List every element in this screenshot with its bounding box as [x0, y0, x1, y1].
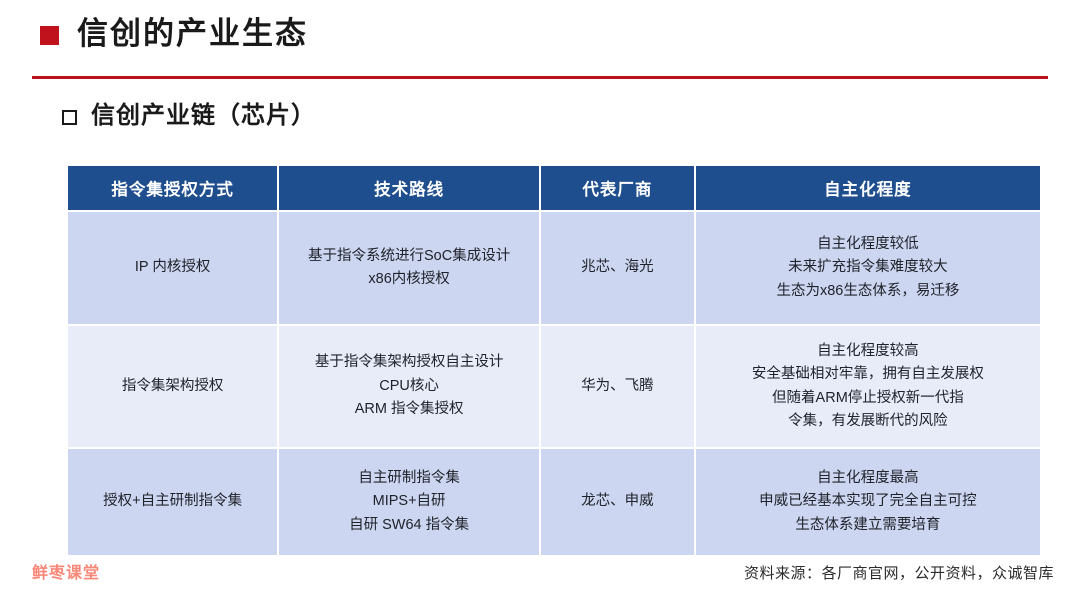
column-header-autonomy: 自主化程度	[696, 166, 1040, 210]
cell-method: IP 内核授权	[68, 212, 277, 324]
table-header-row: 指令集授权方式 技术路线 代表厂商 自主化程度	[68, 166, 1040, 210]
column-header-vendors: 代表厂商	[541, 166, 694, 210]
column-header-route: 技术路线	[279, 166, 539, 210]
slide-title-block: 信创的产业生态	[40, 18, 308, 49]
table-row: IP 内核授权 基于指令系统进行SoC集成设计 x86内核授权 兆芯、海光 自主…	[68, 212, 1040, 324]
section-subtitle: 信创产业链（芯片）	[91, 104, 316, 128]
cell-vendors: 龙芯、申威	[541, 449, 694, 555]
table-row: 指令集架构授权 基于指令集架构授权自主设计 CPU核心 ARM 指令集授权 华为…	[68, 326, 1040, 447]
cell-route: 自主研制指令集 MIPS+自研 自研 SW64 指令集	[279, 449, 539, 555]
cell-method: 指令集架构授权	[68, 326, 277, 447]
table-row: 授权+自主研制指令集 自主研制指令集 MIPS+自研 自研 SW64 指令集 龙…	[68, 449, 1040, 555]
chip-industry-chain-table: 指令集授权方式 技术路线 代表厂商 自主化程度 IP 内核授权 基于指令系统进行…	[66, 164, 1042, 557]
brand-logo: 鲜枣课堂	[32, 566, 100, 582]
cell-autonomy: 自主化程度较低 未来扩充指令集难度较大 生态为x86生态体系，易迁移	[696, 212, 1040, 324]
hollow-square-bullet-icon	[62, 110, 77, 125]
column-header-method: 指令集授权方式	[68, 166, 277, 210]
page-title: 信创的产业生态	[77, 18, 308, 49]
cell-route: 基于指令系统进行SoC集成设计 x86内核授权	[279, 212, 539, 324]
cell-vendors: 华为、飞腾	[541, 326, 694, 447]
cell-route: 基于指令集架构授权自主设计 CPU核心 ARM 指令集授权	[279, 326, 539, 447]
title-divider	[32, 76, 1048, 79]
cell-autonomy: 自主化程度较高 安全基础相对牢靠，拥有自主发展权 但随着ARM停止授权新一代指 …	[696, 326, 1040, 447]
cell-method: 授权+自主研制指令集	[68, 449, 277, 555]
cell-autonomy: 自主化程度最高 申威已经基本实现了完全自主可控 生态体系建立需要培育	[696, 449, 1040, 555]
red-square-bullet-icon	[40, 26, 59, 45]
cell-vendors: 兆芯、海光	[541, 212, 694, 324]
source-note: 资料来源：各厂商官网，公开资料，众诚智库	[744, 566, 1054, 581]
subtitle-block: 信创产业链（芯片）	[62, 104, 316, 128]
